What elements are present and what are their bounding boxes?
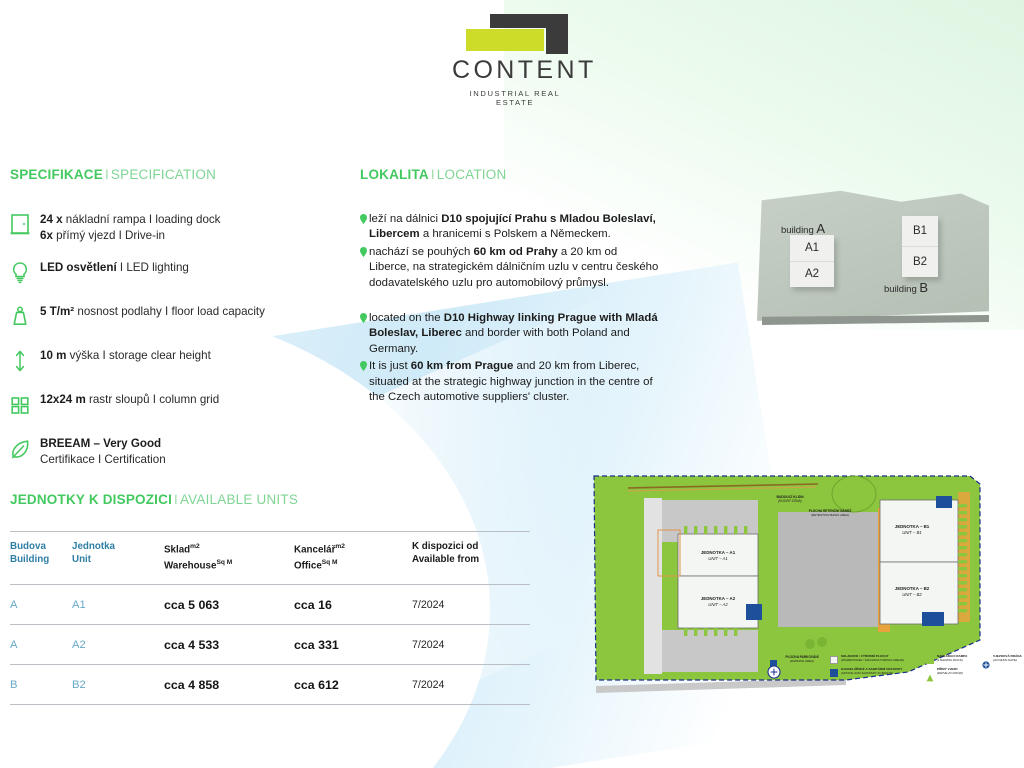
plan-office-b2 bbox=[922, 612, 944, 626]
units-heading-separator: I bbox=[172, 492, 180, 507]
lightbulb-icon bbox=[10, 259, 40, 287]
table-header-row: Budova Building Jednotka Unit Skladm2 Wa… bbox=[10, 532, 530, 585]
plan-tree bbox=[817, 637, 827, 647]
spec-item-breeam: BREEAM – Very Good Certifikace I Certifi… bbox=[10, 436, 345, 467]
col-cz-unit: m2 bbox=[190, 543, 200, 550]
loading-dock-icon bbox=[926, 656, 934, 664]
available-units-table: Budova Building Jednotka Unit Skladm2 Wa… bbox=[10, 531, 530, 705]
spec-text-rest: výška I storage clear height bbox=[66, 349, 210, 362]
location-bullet-text: located on the D10 Highway linking Pragu… bbox=[369, 311, 660, 357]
plan-office-a2 bbox=[746, 604, 762, 620]
legend-item-loading-dock: NAKLÁDACÍ RAMPA(LOADING DOCK) bbox=[926, 655, 980, 664]
plan-annotation-quiet-zone-en: (KLIDNÝ ZÓNA) bbox=[778, 498, 801, 503]
col-cz: Budova bbox=[10, 541, 72, 554]
spec-item-text: 24 x nákladní rampa I loading dock 6x př… bbox=[40, 212, 220, 243]
bullet-pre: It is just bbox=[369, 360, 411, 372]
bullet-pre: located on the bbox=[369, 312, 444, 324]
spec-item-text: 10 m výška I storage clear height bbox=[40, 348, 211, 364]
table-row[interactable]: A A2 cca 4 533 cca 331 7/2024 bbox=[10, 624, 530, 664]
bullet-bold: 60 km od Prahy bbox=[474, 246, 558, 258]
location-bullets-cz: leží na dálnici D10 spojující Prahu s Ml… bbox=[360, 212, 660, 291]
location-heading: LOKALITAILOCATION bbox=[360, 167, 660, 182]
legend-text: PŘÍMÝ VJEZD(DRIVE-IN DOOR) bbox=[937, 668, 963, 676]
specification-section: SPECIFIKACEISPECIFICATION 24 x nákladní … bbox=[10, 167, 345, 484]
spec-text-rest: nosnost podlahy I floor load capacity bbox=[74, 305, 265, 318]
col-en: Unit bbox=[72, 554, 164, 567]
column-header-building: Budova Building bbox=[10, 532, 72, 585]
spec-item-floor-load: 5 T/m² nosnost podlahy I floor load capa… bbox=[10, 304, 345, 331]
location-bullet: nachází se pouhých 60 km od Prahy a 20 k… bbox=[360, 245, 660, 291]
col-cz: Sklad bbox=[164, 544, 190, 555]
building-b-label-prefix: building bbox=[884, 284, 917, 295]
cell-warehouse: cca 4 533 bbox=[164, 624, 294, 664]
column-header-unit: Jednotka Unit bbox=[72, 532, 164, 585]
specification-heading-en: SPECIFICATION bbox=[111, 167, 216, 182]
building-b-block: B1 B2 bbox=[902, 216, 938, 277]
unit-block-b1: B1 bbox=[902, 216, 938, 246]
building-a-block: A1 A2 bbox=[790, 235, 834, 287]
available-units-section: JEDNOTKY K DISPOZICIIAVAILABLE UNITS Bud… bbox=[10, 492, 530, 705]
drive-in-icon bbox=[926, 669, 934, 677]
cell-building: B bbox=[10, 664, 72, 704]
spec-text-rest: nákladní rampa I loading dock bbox=[63, 213, 221, 226]
site-plan-map: JEDNOTKA – A1 UNIT – A1 JEDNOTKA – A2 UN… bbox=[578, 472, 1018, 704]
spec-text-bold-2: 6x bbox=[40, 229, 53, 242]
map-pin-icon bbox=[360, 361, 369, 405]
legend-en: (WAREHOUSE / MANUFACTURING AREAS) bbox=[841, 658, 904, 662]
location-bullet: leží na dálnici D10 spojující Prahu s Ml… bbox=[360, 212, 660, 243]
legend-text: NAKLÁDACÍ RAMPA(LOADING DOCK) bbox=[937, 655, 967, 663]
col-en: Available from bbox=[412, 554, 530, 567]
building-b-label: building B bbox=[884, 280, 928, 295]
spec-text-bold: 5 T/m² bbox=[40, 305, 74, 318]
plan-office-b1 bbox=[936, 496, 952, 508]
cell-available: 7/2024 bbox=[412, 664, 530, 704]
col-en-unit: Sq M bbox=[216, 559, 232, 566]
location-bullet-text: It is just 60 km from Prague and 20 km f… bbox=[369, 359, 660, 405]
map-pin-icon bbox=[360, 313, 369, 357]
location-heading-separator: I bbox=[429, 167, 437, 182]
spec-text-rest: I LED lighting bbox=[117, 261, 189, 274]
spec-text-rest-2: přímý vjezd I Drive-in bbox=[53, 229, 165, 242]
units-heading: JEDNOTKY K DISPOZICIIAVAILABLE UNITS bbox=[10, 492, 530, 507]
spec-item-clear-height: 10 m výška I storage clear height bbox=[10, 348, 345, 375]
company-logo: CONTENT INDUSTRIAL REAL ESTATE bbox=[452, 12, 578, 92]
cell-building: A bbox=[10, 584, 72, 624]
location-heading-cz: LOKALITA bbox=[360, 167, 429, 182]
col-cz: Kancelář bbox=[294, 544, 335, 555]
plan-annotation-parking-en: (PARKING AREA) bbox=[790, 659, 814, 663]
spec-item-text: LED osvětlení I LED lighting bbox=[40, 260, 189, 276]
plan-tree bbox=[805, 639, 815, 649]
bullet-bold: 60 km from Prague bbox=[411, 360, 514, 372]
cell-warehouse: cca 5 063 bbox=[164, 584, 294, 624]
spec-item-text: 12x24 m rastr sloupů I column grid bbox=[40, 392, 219, 408]
plan-west-drive bbox=[644, 498, 662, 674]
legend-text: SKLADOVÉ / VÝROBNÍ PLOCHY(WAREHOUSE / MA… bbox=[841, 655, 904, 663]
unit-block-a1: A1 bbox=[790, 235, 834, 261]
spec-item-column-grid: 12x24 m rastr sloupů I column grid bbox=[10, 392, 345, 419]
spec-text-bold: 10 m bbox=[40, 349, 66, 362]
spec-text-bold: 24 x bbox=[40, 213, 63, 226]
bullet-pre: nachází se pouhých bbox=[369, 246, 474, 258]
col-en-unit: Sq M bbox=[322, 559, 338, 566]
plan-label-a1-en: UNIT – A1 bbox=[708, 556, 727, 561]
specification-list: 24 x nákladní rampa I loading dock 6x př… bbox=[10, 212, 345, 467]
spec-text-bold: BREEAM – Very Good bbox=[40, 437, 161, 450]
white-square-icon bbox=[830, 656, 838, 664]
col-cz: K dispozici od bbox=[412, 541, 530, 554]
cell-unit: A1 bbox=[72, 584, 164, 624]
cell-available: 7/2024 bbox=[412, 624, 530, 664]
cell-office: cca 612 bbox=[294, 664, 412, 704]
location-bullet-text: nachází se pouhých 60 km od Prahy a 20 k… bbox=[369, 245, 660, 291]
column-grid-icon bbox=[10, 391, 40, 419]
plan-label-a2-cz: JEDNOTKA – A2 bbox=[701, 596, 736, 601]
spec-item-loading-dock: 24 x nákladní rampa I loading dock 6x př… bbox=[10, 212, 345, 243]
height-arrow-icon bbox=[10, 347, 40, 375]
floor-load-weight-icon bbox=[10, 303, 40, 331]
map-pin-icon bbox=[360, 214, 369, 243]
legend-item-warehouse: SKLADOVÉ / VÝROBNÍ PLOCHY(WAREHOUSE / MA… bbox=[830, 655, 922, 664]
plan-building-a1 bbox=[678, 534, 758, 576]
spec-item-led-lighting: LED osvětlení I LED lighting bbox=[10, 260, 345, 287]
cell-unit: B2 bbox=[72, 664, 164, 704]
spec-text-rest: rastr sloupů I column grid bbox=[86, 393, 219, 406]
specification-heading-separator: I bbox=[103, 167, 111, 182]
plan-label-a2-en: UNIT – A2 bbox=[708, 602, 728, 607]
logo-wordmark: CONTENT bbox=[452, 58, 578, 83]
legend-text: KANCELÁŘSKÉ A SANITÁRNÍ VESTAVKY(OFFICE … bbox=[841, 668, 902, 676]
brochure-page: CONTENT INDUSTRIAL REAL ESTATE SPECIFIKA… bbox=[0, 0, 1024, 768]
unit-block-b2: B2 bbox=[902, 246, 938, 277]
logo-mark-icon bbox=[452, 12, 578, 57]
plan-central-yard bbox=[778, 512, 878, 627]
building-a-label-letter: A bbox=[816, 221, 825, 236]
location-bullets-en: located on the D10 Highway linking Pragu… bbox=[360, 311, 660, 405]
legend-text: VJEZDOVÁ BRÁNA(ACCESS GATE) bbox=[993, 655, 1022, 663]
location-heading-en: LOCATION bbox=[437, 167, 507, 182]
plan-label-b1-cz: JEDNOTKA – B1 bbox=[895, 524, 930, 529]
specification-heading: SPECIFIKACEISPECIFICATION bbox=[10, 167, 345, 182]
cell-building: A bbox=[10, 624, 72, 664]
plan-label-b1-en: UNIT – B1 bbox=[902, 530, 922, 535]
location-bullet: located on the D10 Highway linking Pragu… bbox=[360, 311, 660, 357]
location-bullet-text: leží na dálnici D10 spojující Prahu s Ml… bbox=[369, 212, 660, 243]
access-gate-icon bbox=[982, 656, 990, 664]
units-heading-en: AVAILABLE UNITS bbox=[180, 492, 298, 507]
map-pin-icon bbox=[360, 247, 369, 291]
column-header-office: Kancelářm2 OfficeSq M bbox=[294, 532, 412, 585]
column-header-available: K dispozici od Available from bbox=[412, 532, 530, 585]
spec-item-text: BREEAM – Very Good Certifikace I Certifi… bbox=[40, 436, 166, 467]
legend-item-drive-in: PŘÍMÝ VJEZD(DRIVE-IN DOOR) bbox=[926, 668, 980, 677]
blue-square-icon bbox=[830, 669, 838, 677]
loading-dock-door-icon bbox=[10, 211, 40, 239]
table-row[interactable]: B B2 cca 4 858 cca 612 7/2024 bbox=[10, 664, 530, 704]
cell-unit: A2 bbox=[72, 624, 164, 664]
col-en: Warehouse bbox=[164, 560, 216, 571]
location-bullet: It is just 60 km from Prague and 20 km f… bbox=[360, 359, 660, 405]
plan-label-b2-en: UNIT – B2 bbox=[902, 592, 922, 597]
table-row[interactable]: A A1 cca 5 063 cca 16 7/2024 bbox=[10, 584, 530, 624]
units-heading-cz: JEDNOTKY K DISPOZICI bbox=[10, 492, 172, 507]
spec-text-bold: LED osvětlení bbox=[40, 261, 117, 274]
spec-text-bold: 12x24 m bbox=[40, 393, 86, 406]
col-cz-unit: m2 bbox=[335, 543, 345, 550]
plan-label-b2-cz: JEDNOTKA – B2 bbox=[895, 586, 930, 591]
cell-office: cca 331 bbox=[294, 624, 412, 664]
location-section: LOKALITAILOCATION leží na dálnici D10 sp… bbox=[360, 167, 660, 407]
col-en: Office bbox=[294, 560, 322, 571]
legend-en: (OFFICE AND SANITARY IN-BUILTS) bbox=[841, 671, 893, 675]
plan-annotation-basin-en: (RETENTION BASIN AREA) bbox=[811, 513, 849, 517]
building-a-label: building A bbox=[781, 221, 825, 236]
cell-office: cca 16 bbox=[294, 584, 412, 624]
unit-block-a2: A2 bbox=[790, 261, 834, 288]
spec-item-text: 5 T/m² nosnost podlahy I floor load capa… bbox=[40, 304, 265, 320]
specification-heading-cz: SPECIFIKACE bbox=[10, 167, 103, 182]
col-en: Building bbox=[10, 554, 72, 567]
legend-item-access-gate: VJEZDOVÁ BRÁNA(ACCESS GATE) bbox=[982, 655, 1024, 664]
column-header-warehouse: Skladm2 WarehouseSq M bbox=[164, 532, 294, 585]
legend-en: (DRIVE-IN DOOR) bbox=[937, 671, 963, 675]
cell-available: 7/2024 bbox=[412, 584, 530, 624]
cell-warehouse: cca 4 858 bbox=[164, 664, 294, 704]
plan-south-parking bbox=[650, 630, 758, 672]
logo-tagline: INDUSTRIAL REAL ESTATE bbox=[452, 89, 578, 107]
spec-text-rest-2: Certifikace I Certification bbox=[40, 453, 166, 466]
building-b-label-letter: B bbox=[919, 280, 928, 295]
leaf-certification-icon bbox=[10, 435, 40, 463]
legend-en: (LOADING DOCK) bbox=[937, 658, 963, 662]
bullet-pre: leží na dálnici bbox=[369, 213, 441, 225]
col-cz: Jednotka bbox=[72, 541, 164, 554]
plan-label-a1-cz: JEDNOTKA – A1 bbox=[701, 550, 736, 555]
legend-item-office: KANCELÁŘSKÉ A SANITÁRNÍ VESTAVKY(OFFICE … bbox=[830, 668, 922, 677]
bullet-post: a hranicemi s Polskem a Německem. bbox=[420, 228, 611, 240]
site-render-diagram: building A A1 A2 B1 B2 building B bbox=[757, 188, 989, 325]
legend-en: (ACCESS GATE) bbox=[993, 658, 1017, 662]
